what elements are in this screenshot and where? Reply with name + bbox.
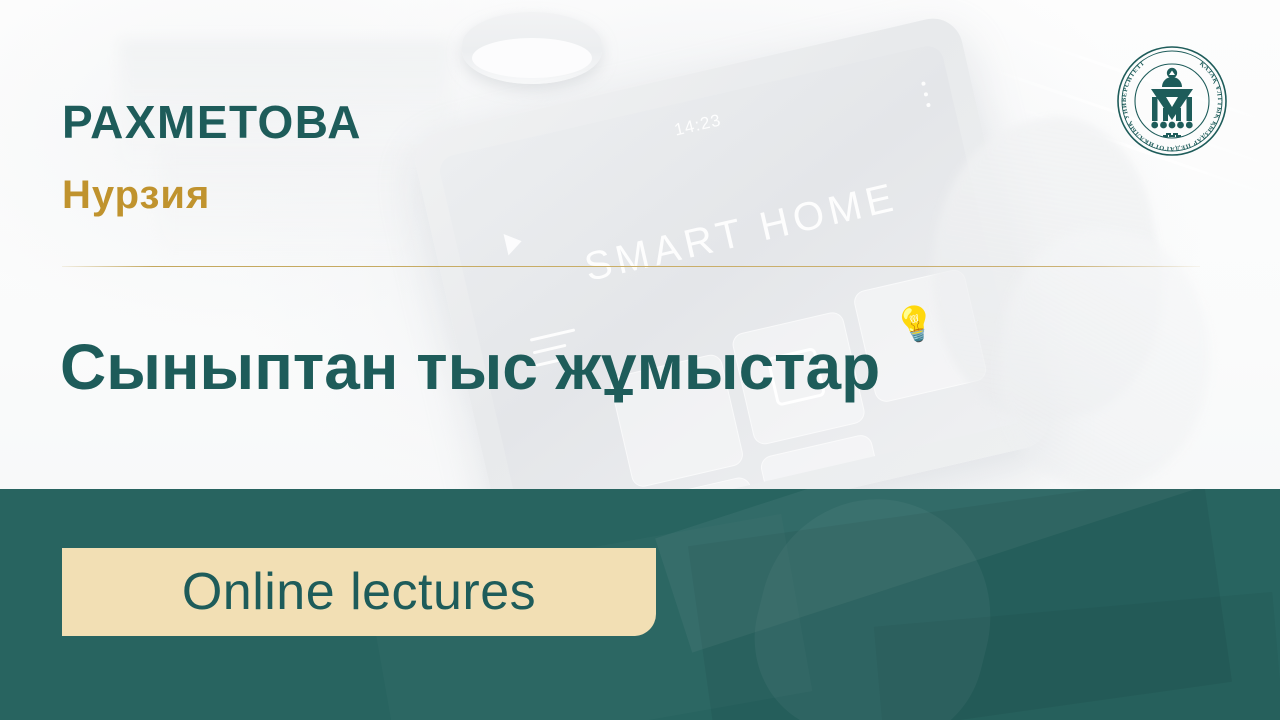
lecture-title: Сыныптан тыс жұмыстар [60, 330, 880, 404]
more-vertical-icon [921, 81, 933, 114]
university-seal-logo: ҚАЗАҚ ҰЛТТЫҚ ҚЫЗДАР ПЕДАГОГИКАЛЫҚ УНИВЕР… [1113, 42, 1231, 160]
tablet-screen-title: SMART HOME [580, 175, 902, 291]
lightbulb-icon: 💡 [891, 303, 940, 346]
gold-divider [62, 266, 1200, 267]
online-lectures-label: Online lectures [182, 562, 536, 622]
lecturer-surname: РАХМЕТОВА [62, 95, 362, 149]
slide-root: 14:23 SMART HOME 💡 📶 🌡 [0, 0, 1280, 720]
tablet-clock: 14:23 [672, 110, 723, 140]
online-lectures-badge: Online lectures [62, 548, 656, 636]
play-icon [504, 230, 525, 255]
lecturer-first-name: Нурзия [62, 173, 210, 218]
ceiling-lamp-glow [472, 38, 592, 78]
